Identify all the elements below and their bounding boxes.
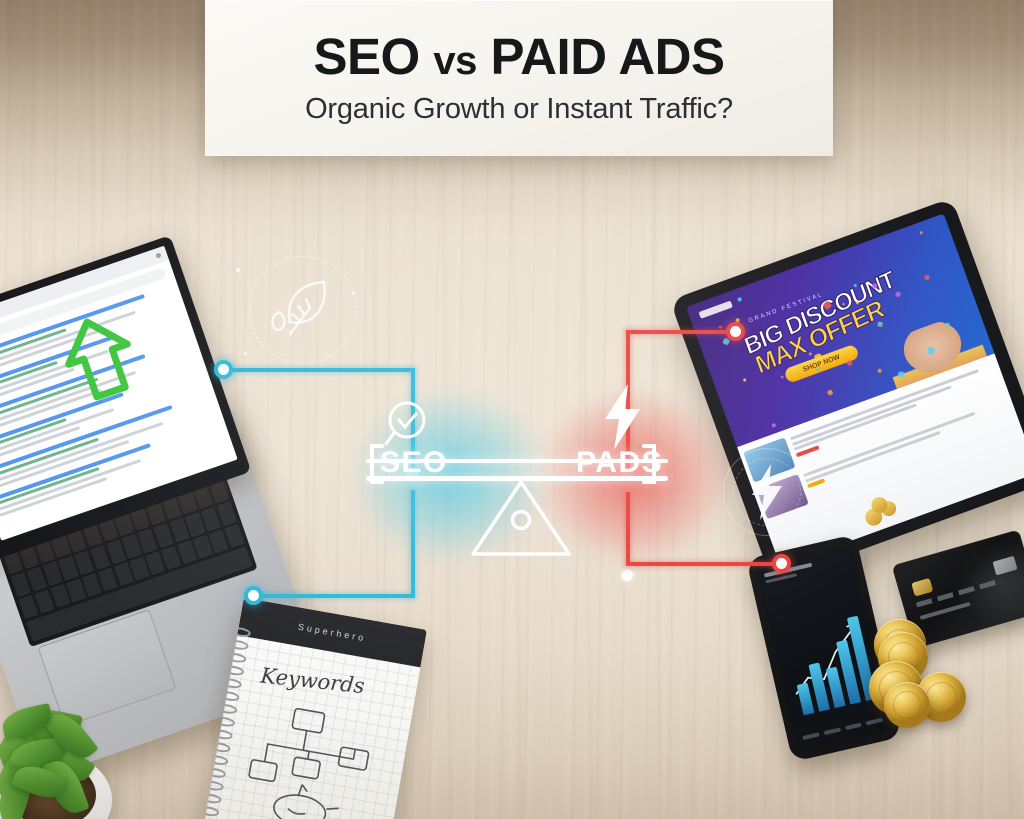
title-vs: vs — [433, 39, 477, 83]
title-banner: SEO vs PAID ADS Organic Growth or Instan… — [205, 0, 833, 156]
title-paid-ads: PAID ADS — [491, 28, 725, 85]
page-title: SEO vs PAID ADS — [313, 30, 724, 84]
page-subtitle: Organic Growth or Instant Traffic? — [305, 93, 733, 126]
infographic-canvas: GRAND FESTIVAL BIG DISCOUNT MAX OFFER SH… — [0, 0, 1024, 819]
title-seo: SEO — [313, 28, 419, 85]
